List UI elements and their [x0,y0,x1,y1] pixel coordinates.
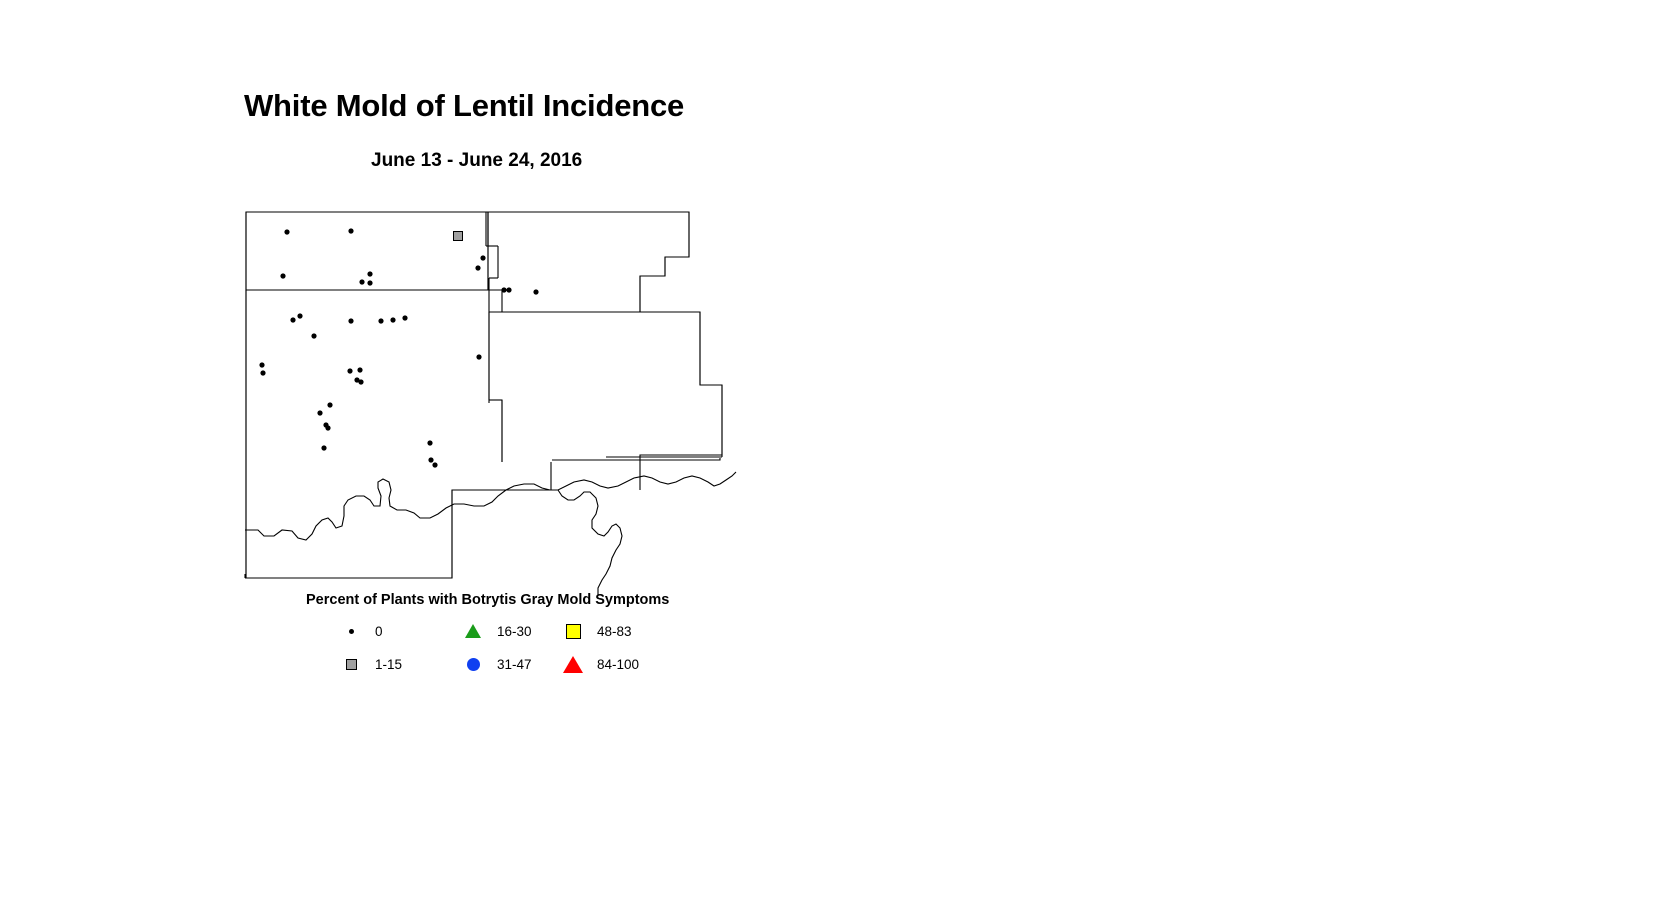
map-point-0 [359,279,364,284]
map-data-points [259,228,538,467]
map-frame [246,212,722,578]
map-point-0 [348,318,353,323]
legend-label-16-30: 16-30 [497,624,532,639]
map-figure: White Mold of Lentil Incidence June 13 -… [0,0,1673,900]
legend-item-16-30[interactable]: 16-30 [462,622,532,640]
map-boundaries [245,212,736,596]
map-point-0 [367,280,372,285]
map-point-0 [476,354,481,359]
county-east-central [502,312,722,490]
legend-title: Percent of Plants with Botrytis Gray Mol… [306,592,669,608]
map-point-0 [428,457,433,462]
map-canvas [240,200,740,600]
map-point-0 [348,228,353,233]
map-point-0 [311,333,316,338]
yellow-square-icon [562,622,584,640]
legend-label-48-83: 48-83 [597,624,632,639]
gray-square-icon [340,655,362,673]
map-point-0 [390,317,395,322]
small-black-dot-icon [340,622,362,640]
map-legend: Percent of Plants with Botrytis Gray Mol… [240,588,760,688]
county-line-center-step [489,400,502,462]
blue-circle-icon [462,655,484,673]
county-northeast [488,212,689,312]
map-point-0 [427,440,432,445]
county-southeast-top [552,458,720,460]
legend-item-31-47[interactable]: 31-47 [462,655,532,673]
river-boundary-north [245,472,736,540]
map-point-0 [533,289,538,294]
map-point-0 [325,425,330,430]
map-point-0 [480,255,485,260]
map-point-0 [367,271,372,276]
map-point-0 [327,402,332,407]
map-point-0 [378,318,383,323]
map-point-0 [347,368,352,373]
map-point-1-15 [454,232,463,241]
page-subtitle: June 13 - June 24, 2016 [371,150,582,172]
legend-item-84-100[interactable]: 84-100 [562,655,639,673]
map-point-0 [260,370,265,375]
legend-label-31-47: 31-47 [497,657,532,672]
map-point-0 [290,317,295,322]
red-triangle-icon [562,655,584,673]
page-title: White Mold of Lentil Incidence [244,88,684,124]
map-point-0 [297,313,302,318]
map-point-0 [317,410,322,415]
map-svg [240,200,740,600]
river-boundary-east [558,490,622,596]
legend-label-1-15: 1-15 [375,657,402,672]
map-point-0 [357,367,362,372]
map-point-0 [358,379,363,384]
map-point-0 [284,229,289,234]
map-point-0 [321,445,326,450]
border-south [245,490,558,578]
legend-label-0: 0 [375,624,383,639]
legend-label-84-100: 84-100 [597,657,639,672]
map-point-0 [402,315,407,320]
map-point-0 [501,287,506,292]
map-point-0 [432,462,437,467]
map-point-0 [475,265,480,270]
green-triangle-icon [462,622,484,640]
legend-item-1-15[interactable]: 1-15 [340,655,402,673]
legend-item-48-83[interactable]: 48-83 [562,622,632,640]
map-point-0 [506,287,511,292]
map-point-0 [280,273,285,278]
legend-item-0[interactable]: 0 [340,622,383,640]
map-point-0 [259,362,264,367]
